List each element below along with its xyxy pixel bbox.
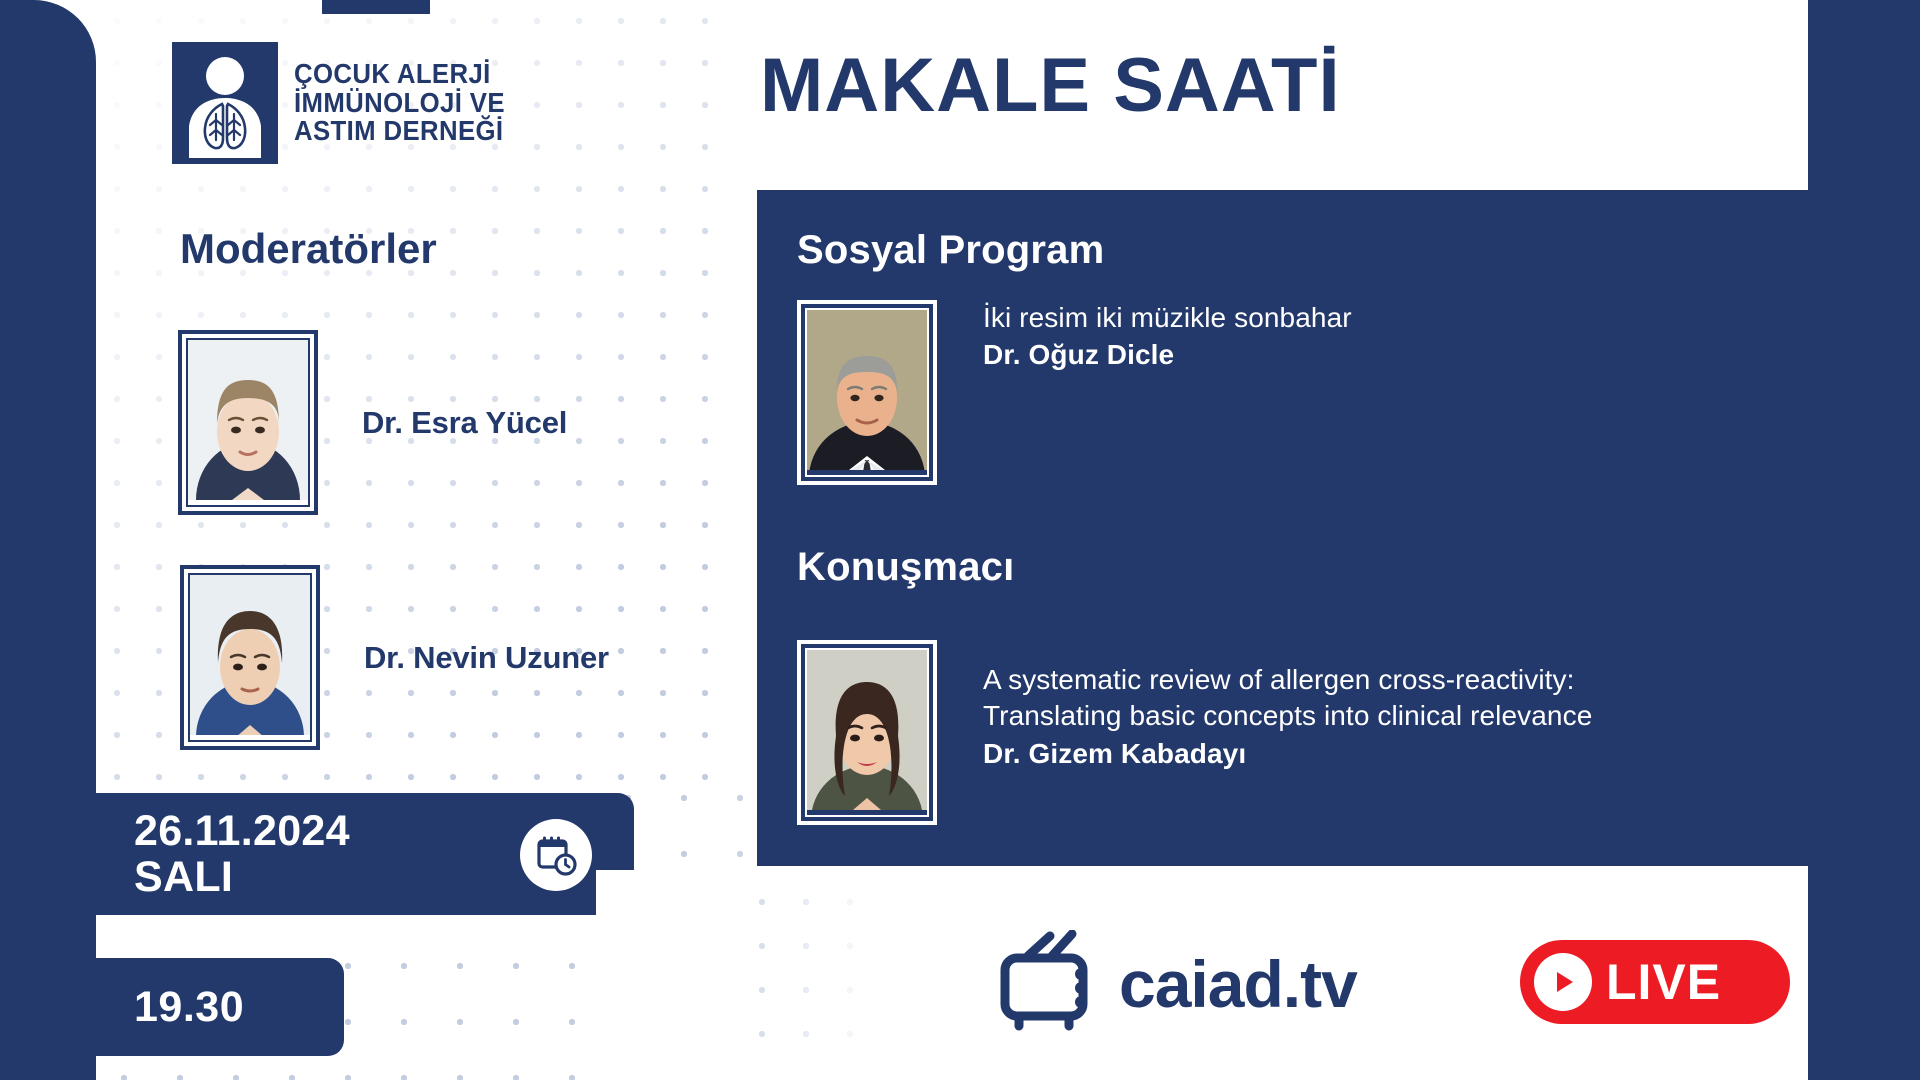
program-entry: İki resim iki müzikle sonbahar Dr. Oğuz … xyxy=(797,300,1352,485)
section-heading-sosyal-program: Sosyal Program xyxy=(797,228,1104,273)
program-panel: Sosyal Program xyxy=(757,190,1920,866)
program-entry-text: A systematic review of allergen cross-re… xyxy=(983,662,1592,770)
avatar xyxy=(180,565,320,750)
event-date-value: 26.11.2024 xyxy=(134,808,350,854)
live-label: LIVE xyxy=(1606,953,1721,1011)
moderator-name: Dr. Nevin Uzuner xyxy=(364,640,609,676)
moderators-heading: Moderatörler xyxy=(180,225,437,273)
moderator-name: Dr. Esra Yücel xyxy=(362,405,567,441)
site-name: caiad.tv xyxy=(1119,946,1357,1022)
org-line-1: ÇOCUK ALERJİ xyxy=(294,60,505,89)
program-entry: A systematic review of allergen cross-re… xyxy=(797,640,1592,825)
event-day-value: SALI xyxy=(134,854,350,900)
calendar-clock-icon xyxy=(520,819,592,891)
lungs-person-icon xyxy=(172,42,278,164)
portrait-esra-yucel xyxy=(186,338,310,507)
organization-name: ÇOCUK ALERJİ İMMÜNOLOJİ VE ASTIM DERNEĞİ xyxy=(294,60,505,146)
portrait-oguz-dicle xyxy=(805,308,929,477)
play-icon xyxy=(1534,953,1592,1011)
event-time-chip: 19.30 xyxy=(62,958,344,1056)
org-line-2: İMMÜNOLOJİ VE xyxy=(294,89,505,118)
avatar xyxy=(797,640,937,825)
live-badge[interactable]: LIVE xyxy=(1520,940,1790,1024)
program-entry-title-line1: A systematic review of allergen cross-re… xyxy=(983,662,1592,698)
site-branding[interactable]: caiad.tv xyxy=(995,930,1357,1037)
moderator-item: Dr. Nevin Uzuner xyxy=(180,565,609,750)
program-entry-text: İki resim iki müzikle sonbahar Dr. Oğuz … xyxy=(983,300,1352,371)
section-heading-konusmaci: Konuşmacı xyxy=(797,545,1014,590)
portrait-nevin-uzuner xyxy=(188,573,312,742)
poster-canvas: ÇOCUK ALERJİ İMMÜNOLOJİ VE ASTIM DERNEĞİ… xyxy=(0,0,1920,1080)
program-entry-title: İki resim iki müzikle sonbahar xyxy=(983,300,1352,336)
event-date-chip: 26.11.2024 SALI xyxy=(62,793,634,915)
program-entry-person: Dr. Gizem Kabadayı xyxy=(983,738,1592,770)
portrait-gizem-kabadayi xyxy=(805,648,929,817)
avatar xyxy=(797,300,937,485)
org-line-3: ASTIM DERNEĞİ xyxy=(294,117,505,146)
page-title: MAKALE SAATİ xyxy=(760,42,1341,129)
program-entry-person: Dr. Oğuz Dicle xyxy=(983,339,1352,371)
event-date: 26.11.2024 SALI xyxy=(134,808,350,901)
television-icon xyxy=(995,930,1105,1037)
left-accent-bar xyxy=(0,0,96,1080)
program-entry-title-line2: Translating basic concepts into clinical… xyxy=(983,698,1592,734)
event-time: 19.30 xyxy=(134,983,244,1032)
top-accent-tab xyxy=(322,0,430,14)
moderator-item: Dr. Esra Yücel xyxy=(178,330,567,515)
organization-logo: ÇOCUK ALERJİ İMMÜNOLOJİ VE ASTIM DERNEĞİ xyxy=(172,42,523,164)
avatar xyxy=(178,330,318,515)
